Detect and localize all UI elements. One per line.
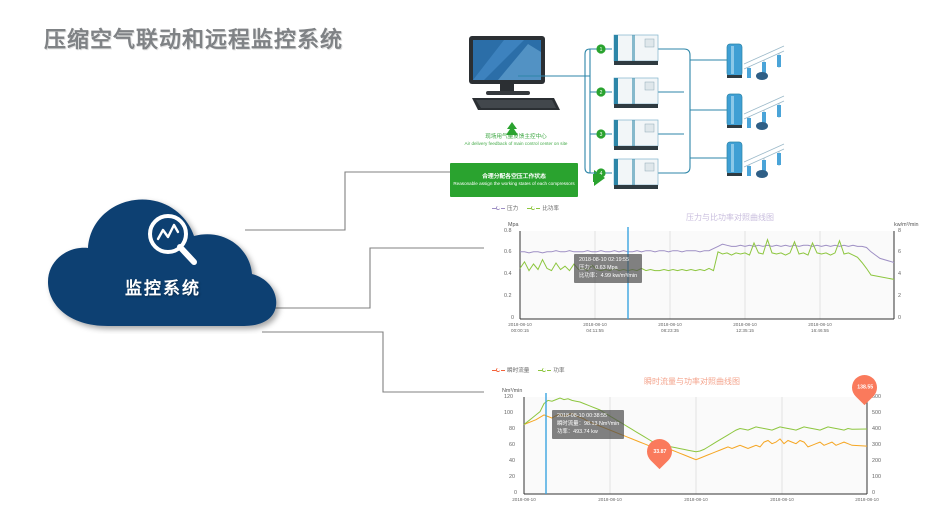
- power-y2tick-0: 0: [872, 490, 875, 496]
- monitoring-cloud[interactable]: 监控系统: [38, 186, 288, 334]
- xtick-date: 2018-08-10: [770, 497, 794, 502]
- xtick-time: 16:46:55: [811, 328, 829, 333]
- power-y2tick-300: 300: [872, 442, 881, 448]
- xtick-date: 2018-08-10: [598, 497, 622, 502]
- xtick-time: 00:00:15: [511, 328, 529, 333]
- plant-topology: 1 2 3 4: [432, 18, 945, 203]
- xtick-time: 08:23:35: [661, 328, 679, 333]
- flow-marker-high-label: 138.55: [857, 385, 873, 391]
- pressure-xtick-3: 2018-08-10 12:35:15: [720, 322, 770, 333]
- pressure-ytick-0: 0: [511, 315, 514, 321]
- flow-ytick-20: 20: [509, 474, 515, 480]
- pressure-xtick-4: 2018-08-10 16:46:55: [795, 322, 845, 333]
- pressure-ytick-0.2: 0.2: [504, 293, 512, 299]
- flow-ytick-60: 60: [509, 442, 515, 448]
- xtick-date: 2018-08-10: [512, 497, 536, 502]
- power-y2tick-100: 100: [872, 474, 881, 480]
- pressure-ytick-0.4: 0.4: [504, 271, 512, 277]
- xtick-date: 2018-08-10: [684, 497, 708, 502]
- slide-canvas: 压缩空气联动和远程监控系统 监控系统: [0, 0, 945, 529]
- pressure-ytick-0.8: 0.8: [504, 228, 512, 234]
- xtick-date: 2018-08-10: [658, 322, 682, 327]
- pressure-y2tick-4: 4: [898, 271, 901, 277]
- cloud-label: 监控系统: [38, 274, 288, 299]
- xtick-date: 2018-08-10: [855, 497, 879, 502]
- pressure-chart-panel: 压力 比功率 压力与比功率对照曲线图 Mpa kw/m³/min: [484, 200, 945, 336]
- xtick-time: 04:11:55: [586, 328, 604, 333]
- flow-xtick-0: 2018-08-10: [499, 497, 549, 503]
- page-title: 压缩空气联动和远程监控系统: [44, 22, 343, 54]
- power-y2tick-400: 400: [872, 426, 881, 432]
- flow-ytick-40: 40: [509, 458, 515, 464]
- xtick-date: 2018-08-10: [583, 322, 607, 327]
- power-y2tick-200: 200: [872, 458, 881, 464]
- pressure-chart-tooltip: 2018-08-10 02:19:55 压力：0.63 Mpa 比功率：4.99…: [574, 254, 642, 283]
- xtick-time: 12:35:15: [736, 328, 754, 333]
- pressure-xtick-1: 2018-08-10 04:11:55: [570, 322, 620, 333]
- xtick-date: 2018-08-10: [733, 322, 757, 327]
- pressure-y2tick-0: 0: [898, 315, 901, 321]
- tooltip-line1: 瞬时流量：98.13 Nm³/min: [557, 421, 619, 429]
- svg-text:4: 4: [600, 171, 603, 177]
- svg-text:2: 2: [600, 90, 603, 96]
- system-diagram-panel: 现场用气量反馈主控中心 Air delivery feedback of mai…: [432, 18, 945, 203]
- pressure-y2tick-2: 2: [898, 293, 901, 299]
- xtick-date: 2018-08-10: [808, 322, 832, 327]
- flow-xtick-1: 2018-08-10: [585, 497, 635, 503]
- tooltip-line1: 压力：0.63 Mpa: [579, 265, 637, 273]
- pressure-xtick-0: 2018-08-10 00:00:15: [495, 322, 545, 333]
- pressure-xtick-2: 2018-08-10 08:23:35: [645, 322, 695, 333]
- tooltip-line2: 功率：493.74 kw: [557, 429, 619, 437]
- flow-ytick-100: 100: [504, 410, 513, 416]
- flow-ytick-0: 0: [514, 490, 517, 496]
- xtick-date: 2018-08-10: [508, 322, 532, 327]
- tooltip-line2: 比功率：4.99 kw/m³/min: [579, 273, 637, 281]
- flow-power-chart-tooltip: 2018-08-10 00:38:55 瞬时流量：98.13 Nm³/min 功…: [552, 410, 624, 439]
- pressure-ytick-0.6: 0.6: [504, 249, 512, 255]
- magnifier-chart-icon: [142, 212, 202, 268]
- power-y2tick-500: 500: [872, 410, 881, 416]
- pressure-chart-plot: [484, 200, 945, 336]
- flow-ytick-120: 120: [504, 394, 513, 400]
- svg-text:1: 1: [600, 47, 603, 53]
- flow-ytick-80: 80: [509, 426, 515, 432]
- tooltip-time: 2018-08-10 02:19:55: [579, 257, 637, 265]
- flow-marker-low-label: 33.87: [653, 449, 666, 455]
- pressure-y2tick-8: 8: [898, 228, 901, 234]
- tooltip-time: 2018-08-10 00:38:55: [557, 413, 619, 421]
- flow-power-chart-panel: 瞬时流量 功率 瞬时流量与功率对照曲线图 Nm³/min: [484, 362, 945, 529]
- flow-xtick-2: 2018-08-10: [671, 497, 721, 503]
- flow-xtick-4: 2018-08-10: [842, 497, 892, 503]
- flow-xtick-3: 2018-08-10: [757, 497, 807, 503]
- pressure-y2tick-6: 6: [898, 249, 901, 255]
- svg-text:3: 3: [600, 132, 603, 138]
